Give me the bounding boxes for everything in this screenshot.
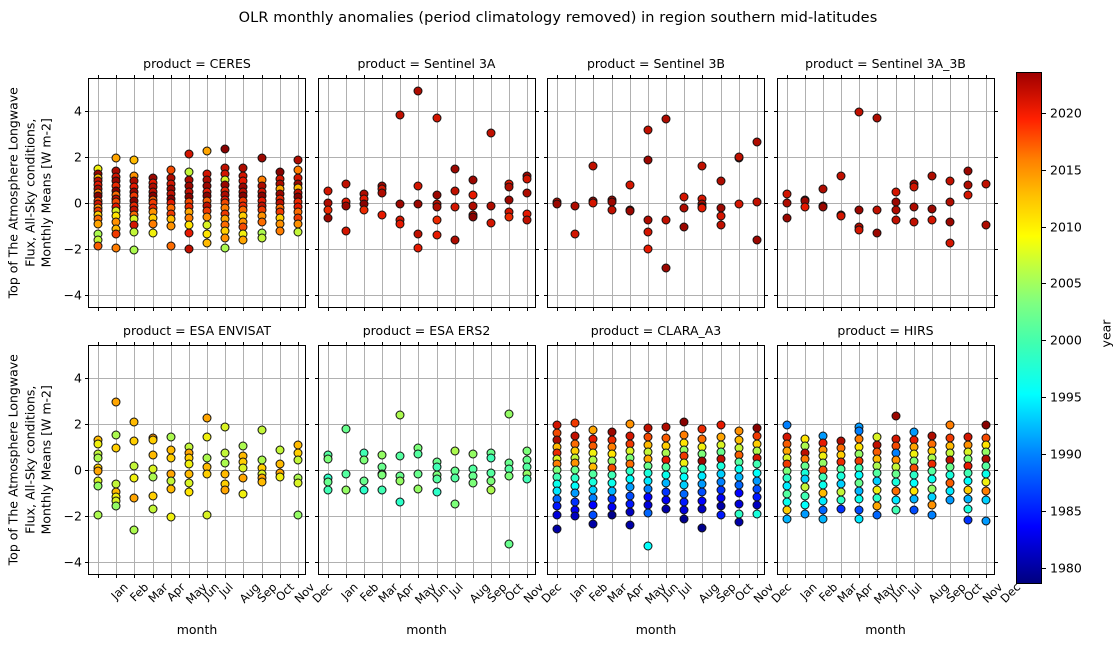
data-point [946,217,955,226]
gridline-horizontal [778,295,994,296]
x-tick [171,574,172,578]
x-tick-top [207,75,208,79]
y-tick [544,470,548,471]
plot-area[interactable]: JanFebMarAprMayJunJulAugSepOctNovDecmont… [318,345,536,575]
colorbar-tick-label: 2000 [1050,333,1082,348]
y-tick [544,378,548,379]
gridline-horizontal [89,424,305,425]
gridline-horizontal [778,111,994,112]
data-point [571,489,580,498]
data-point [184,460,193,469]
x-tick-top [225,342,226,346]
y-tick-right [764,378,768,379]
x-tick-label: Apr [393,580,417,604]
data-point [450,236,459,245]
data-point [203,414,212,423]
gridline-vertical [116,346,117,574]
data-point [982,516,991,525]
facet-title: product = CERES [88,56,306,71]
data-point [505,195,514,204]
gridline-horizontal [319,203,535,204]
x-tick-top [787,75,788,79]
data-point [698,162,707,171]
gridline-vertical [557,79,558,307]
y-tick [85,295,89,296]
data-point [946,421,955,430]
x-tick [171,307,172,311]
x-tick-top [630,342,631,346]
data-point [130,474,139,483]
x-tick [593,307,594,311]
data-point [432,114,441,123]
data-point [818,202,827,211]
y-axis-label-top-row: Top of The Atmosphere LongwaveFlux, All-… [5,78,55,308]
data-point [130,461,139,470]
y-axis-label-line: Top of The Atmosphere Longwave [5,345,22,575]
data-point [112,398,121,407]
gridline-horizontal [319,111,535,112]
x-tick [593,574,594,578]
data-point [396,110,405,119]
gridline-vertical [455,346,456,574]
data-point [662,478,671,487]
x-tick-top [382,75,383,79]
y-tick-label: −2 [64,242,82,257]
x-tick [98,307,99,311]
gridline-vertical [346,79,347,307]
gridline-horizontal [89,111,305,112]
x-tick [684,574,685,578]
gridline-horizontal [89,295,305,296]
y-tick-right [535,111,539,112]
plot-area[interactable]: JanFebMarAprMayJunJulAugSepOctNovDecmont… [777,345,995,575]
x-tick-top [116,75,117,79]
data-point [873,206,882,215]
colorbar-tick [1041,511,1046,512]
gridline-vertical [382,346,383,574]
data-point [112,244,121,253]
data-point [505,213,514,222]
data-point [571,230,580,239]
x-tick [968,574,969,578]
y-tick [774,470,778,471]
data-point [468,176,477,185]
data-point [257,154,266,163]
x-tick-top [437,75,438,79]
gridline-horizontal [548,516,764,517]
data-point [487,218,496,227]
data-point [341,201,350,210]
x-tick [243,574,244,578]
data-point [855,206,864,215]
x-tick-top [739,342,740,346]
x-tick-top [986,342,987,346]
data-point [450,499,459,508]
x-tick-top [877,75,878,79]
colorbar-tick-label: 1980 [1050,560,1082,575]
gridline-horizontal [548,249,764,250]
y-tick-right [535,203,539,204]
x-tick-top [189,75,190,79]
data-point [414,200,423,209]
x-tick-top [262,342,263,346]
data-point [680,481,689,490]
x-tick [557,307,558,311]
data-point [505,471,514,480]
data-point [166,484,175,493]
data-point [239,490,248,499]
data-point [94,453,103,462]
x-tick [575,574,576,578]
x-tick-top [968,75,969,79]
gridline-vertical [805,79,806,307]
y-axis-label-line: Flux, All-Sky conditions, [22,345,39,575]
data-point [257,477,266,486]
y-tick-right [764,157,768,158]
gridlines [548,79,764,307]
data-point [130,227,139,236]
data-point [414,469,423,478]
x-tick [896,307,897,311]
y-tick-right [994,111,998,112]
x-tick-top [684,75,685,79]
data-point [625,180,634,189]
x-tick [243,307,244,311]
y-tick-right [764,424,768,425]
data-point [946,239,955,248]
data-point [734,200,743,209]
x-tick-top [455,342,456,346]
x-tick-top [98,75,99,79]
gridline-vertical [841,79,842,307]
x-tick-top [491,342,492,346]
data-point [341,485,350,494]
x-tick [896,574,897,578]
data-point [148,436,157,445]
data-point [698,488,707,497]
data-point [505,183,514,192]
y-tick [774,516,778,517]
data-point [257,217,266,226]
x-tick-label: Dec [539,580,565,606]
data-point [571,512,580,521]
data-point [589,500,598,509]
y-axis-label-line: Monthly Means [W m-2] [38,345,55,575]
data-point [112,230,121,239]
y-tick-label: 4 [74,104,82,119]
data-point [450,446,459,455]
facet-panel-1: product = Sentinel 3A [318,78,536,308]
facet-title: product = Sentinel 3A_3B [777,56,995,71]
data-point [203,239,212,248]
plot-area[interactable] [547,78,765,308]
x-tick-top [666,342,667,346]
x-tick-top [418,342,419,346]
y-tick [315,295,319,296]
data-point [946,486,955,495]
data-point [184,488,193,497]
y-tick-right [305,424,309,425]
data-point [607,511,616,520]
gridline-vertical [666,79,667,307]
plot-area[interactable] [777,78,995,308]
colorbar-tick-label: 1985 [1050,504,1082,519]
data-point [523,188,532,197]
x-tick-top [841,75,842,79]
x-tick [950,307,951,311]
colorbar-tick-label: 2015 [1050,162,1082,177]
x-tick [721,574,722,578]
data-point [553,524,562,533]
data-point [359,206,368,215]
x-tick [364,574,365,578]
x-tick [189,574,190,578]
gridline-vertical [575,79,576,307]
data-point [752,138,761,147]
x-tick-label: Oct [272,580,296,604]
x-tick [877,307,878,311]
x-tick [400,574,401,578]
plot-area[interactable]: −4−2024JanFebMarAprMayJunJulAugSepOctNov… [88,345,306,575]
x-tick-top [134,342,135,346]
data-point [450,186,459,195]
x-tick-top [593,342,594,346]
x-tick [437,307,438,311]
y-tick [315,562,319,563]
data-point [94,439,103,448]
x-tick-top [950,75,951,79]
colorbar-title: year [1098,320,1113,348]
data-point [891,216,900,225]
y-axis-label-line: Monthly Means [W m-2] [38,78,55,308]
y-tick [544,516,548,517]
y-tick-right [994,203,998,204]
gridline-vertical [418,79,419,307]
x-tick-top [364,342,365,346]
x-tick [914,307,915,311]
x-axis-title: month [548,622,764,637]
data-point [909,183,918,192]
colorbar-tick-label: 1990 [1050,447,1082,462]
x-tick [575,307,576,311]
x-tick-top [473,342,474,346]
x-tick-label: Dec [768,580,794,606]
data-point [130,437,139,446]
data-point [221,244,230,253]
data-point [414,244,423,253]
x-tick-top [328,342,329,346]
y-tick-label: −4 [64,555,82,570]
x-tick-label: Apr [163,580,187,604]
y-tick [315,203,319,204]
x-tick [207,307,208,311]
data-point [275,473,284,482]
x-tick [557,574,558,578]
plot-area[interactable]: JanFebMarAprMayJunJulAugSepOctNovDecmont… [547,345,765,575]
data-point [553,200,562,209]
x-tick-top [557,342,558,346]
x-tick [612,307,613,311]
data-point [982,421,991,430]
y-tick-right [535,424,539,425]
x-tick-top [527,342,528,346]
y-tick-right [305,295,309,296]
x-tick [757,574,758,578]
data-point [293,478,302,487]
colorbar-tick-label: 2020 [1050,105,1082,120]
y-tick [544,157,548,158]
data-point [643,125,652,134]
data-point [891,206,900,215]
y-tick-right [535,378,539,379]
data-point [203,221,212,230]
colorbar-tick [1041,397,1046,398]
data-point [450,474,459,483]
x-tick-top [630,75,631,79]
x-tick [437,574,438,578]
data-point [359,476,368,485]
data-point [341,424,350,433]
data-point [837,211,846,220]
gridline-horizontal [89,562,305,563]
x-tick [280,574,281,578]
data-point [523,216,532,225]
data-point [752,236,761,245]
x-tick-label: Jul [675,580,695,600]
facet-panel-6: product = CLARA_A3JanFebMarAprMayJunJulA… [547,345,765,575]
x-tick [509,307,510,311]
plot-area[interactable]: −4−2024 [88,78,306,308]
data-point [589,425,598,434]
gridline-horizontal [548,111,764,112]
x-tick [207,574,208,578]
data-point [818,185,827,194]
data-point [341,469,350,478]
data-point [782,214,791,223]
x-tick-top [575,75,576,79]
x-tick [382,574,383,578]
x-tick [262,574,263,578]
x-tick-top [364,75,365,79]
data-point [432,191,441,200]
gridline-horizontal [548,203,764,204]
data-point [643,423,652,432]
x-tick [630,574,631,578]
x-tick [225,574,226,578]
data-point [94,511,103,520]
data-point [680,203,689,212]
gridline-vertical [593,79,594,307]
data-point [166,453,175,462]
data-point [203,147,212,156]
x-tick-top [225,75,226,79]
x-tick-top [805,342,806,346]
data-point [964,515,973,524]
data-point [239,236,248,245]
gridline-horizontal [89,157,305,158]
y-tick-label: −4 [64,288,82,303]
x-tick-top [171,75,172,79]
data-point [112,444,121,453]
data-point [487,476,496,485]
y-tick-right [994,516,998,517]
data-point [891,187,900,196]
x-tick [841,574,842,578]
data-point [855,108,864,117]
data-point [184,469,193,478]
x-tick [757,307,758,311]
data-point [323,186,332,195]
data-point [752,500,761,509]
gridline-vertical [346,346,347,574]
data-point [752,509,761,518]
data-point [341,179,350,188]
data-point [184,245,193,254]
x-tick-top [757,342,758,346]
gridline-horizontal [319,249,535,250]
data-point [396,498,405,507]
y-tick [774,562,778,563]
x-tick-top [116,342,117,346]
data-point [964,191,973,200]
y-tick-right [535,249,539,250]
y-tick [85,562,89,563]
y-tick-label: 0 [74,196,82,211]
gridline-horizontal [778,157,994,158]
x-tick [346,307,347,311]
x-tick-top [298,75,299,79]
colorbar-tick [1041,170,1046,171]
data-point [432,216,441,225]
gridline-horizontal [319,516,535,517]
x-tick-top [684,342,685,346]
x-tick [153,574,154,578]
y-tick-right [305,516,309,517]
x-tick [823,574,824,578]
x-tick-top [509,342,510,346]
data-point [716,501,725,510]
facet-title: product = Sentinel 3B [547,56,765,71]
y-tick-right [535,470,539,471]
x-tick [805,574,806,578]
gridlines [319,79,535,307]
data-point [130,417,139,426]
data-point [927,204,936,213]
gridline-horizontal [778,249,994,250]
data-point [239,463,248,472]
plot-area[interactable] [318,78,536,308]
colorbar-year[interactable]: 198019851990199520002005201020152020 [1016,72,1042,584]
y-tick [774,111,778,112]
data-point [716,421,725,430]
data-point [891,412,900,421]
data-point [818,497,827,506]
data-point [184,478,193,487]
y-tick [544,249,548,250]
data-point [800,509,809,518]
x-tick [702,574,703,578]
data-point [468,213,477,222]
x-tick-top [382,342,383,346]
x-tick-top [612,75,613,79]
data-point [359,455,368,464]
data-point [782,514,791,523]
data-point [239,474,248,483]
x-tick-label: Dec [309,580,335,606]
data-point [837,505,846,514]
gridline-vertical [630,79,631,307]
x-tick-top [841,342,842,346]
